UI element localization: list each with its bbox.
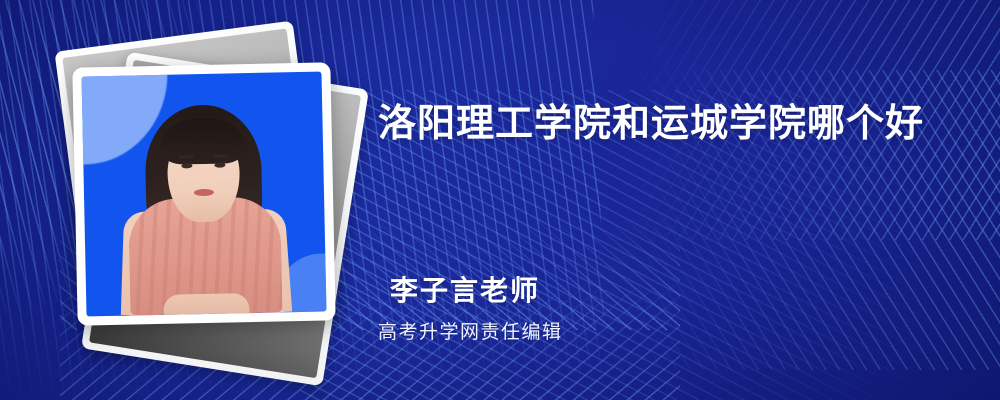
portrait-hands [163, 293, 249, 316]
portrait-figure [107, 107, 301, 316]
banner-text-area: 洛阳理工学院和运城学院哪个好 李子言老师 高考升学网责任编辑 [378, 0, 978, 400]
author-photo [82, 72, 327, 317]
author-role: 高考升学网责任编辑 [378, 320, 563, 346]
photo-card-stack [55, 35, 355, 365]
article-banner: 洛阳理工学院和运城学院哪个好 李子言老师 高考升学网责任编辑 [0, 0, 1000, 400]
author-name: 李子言老师 [390, 274, 540, 308]
photo-card-front [72, 62, 335, 325]
page-title: 洛阳理工学院和运城学院哪个好 [378, 100, 978, 148]
